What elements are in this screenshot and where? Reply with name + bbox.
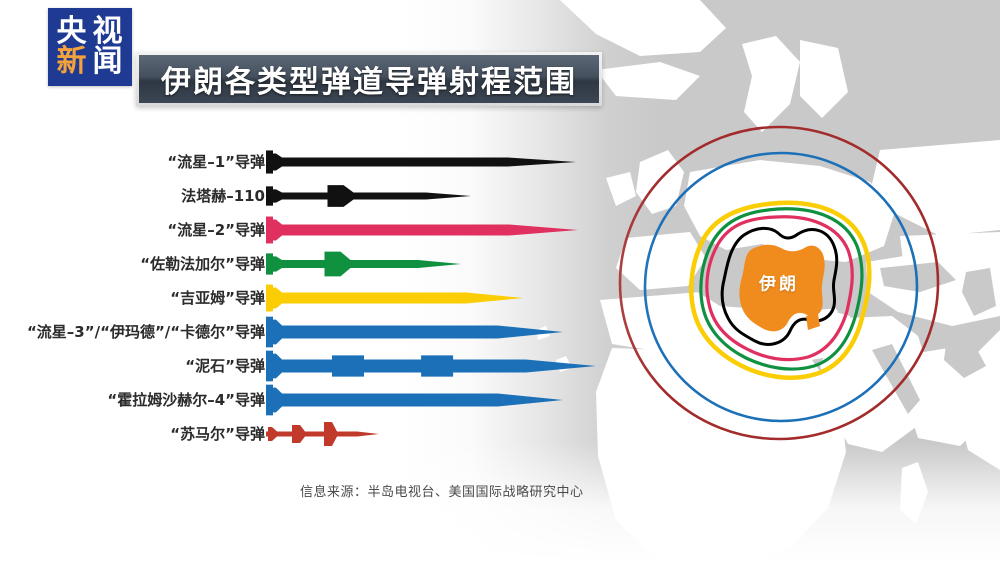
missile-name-label: “泥石”导弹 <box>185 349 265 383</box>
missile-range-row: “霍拉姆沙赫尔–4”导弹 <box>0 383 1000 417</box>
missile-bar <box>266 179 477 213</box>
missile-range-row: 法塔赫–110 <box>0 179 1000 213</box>
missile-range-row: “流星–1”导弹 <box>0 145 1000 179</box>
missile-range-row: “泥石”导弹 <box>0 349 1000 383</box>
missile-name-label: “流星–2”导弹 <box>167 213 265 247</box>
logo-char-wen: 闻 <box>90 47 126 77</box>
logo-line-1: 央 视 <box>54 17 126 47</box>
missile-bar <box>266 383 569 417</box>
missile-range-row: “佐勒法加尔”导弹 <box>0 247 1000 281</box>
logo-char-shi: 视 <box>90 17 126 47</box>
missile-bar <box>266 247 467 281</box>
logo-line-2: 新 闻 <box>54 47 126 77</box>
missile-name-label: “霍拉姆沙赫尔–4”导弹 <box>107 383 265 417</box>
cctv-news-logo: 央 视 新 闻 <box>48 8 132 86</box>
missile-name-label: “苏马尔”导弹 <box>170 417 265 451</box>
missile-bar <box>266 281 529 315</box>
infographic-canvas: 伊朗 央 视 新 闻 伊朗各类型弹道导弹射程范围 “流星–1”导弹法塔赫–110… <box>0 0 1000 562</box>
missile-range-row: “流星–2”导弹 <box>0 213 1000 247</box>
missile-name-label: “佐勒法加尔”导弹 <box>140 247 265 281</box>
source-note: 信息来源：半岛电视台、美国国际战略研究中心 <box>300 481 584 500</box>
missile-name-label: 法塔赫–110 <box>181 179 265 213</box>
logo-char-xin: 新 <box>54 47 90 77</box>
missile-range-bar-list: “流星–1”导弹法塔赫–110“流星–2”导弹“佐勒法加尔”导弹“吉亚姆”导弹“… <box>0 145 1000 451</box>
missile-bar <box>266 213 584 247</box>
missile-bar <box>266 145 582 179</box>
title-banner: 伊朗各类型弹道导弹射程范围 <box>136 52 602 106</box>
missile-name-label: “吉亚姆”导弹 <box>170 281 265 315</box>
missile-range-row: “苏马尔”导弹 <box>0 417 1000 451</box>
missile-bar <box>266 417 385 451</box>
missile-bar <box>266 349 602 383</box>
page-title: 伊朗各类型弹道导弹射程范围 <box>161 57 577 101</box>
missile-name-label: “流星–3”/“伊玛德”/“卡德尔”导弹 <box>27 315 265 349</box>
logo-char-yang: 央 <box>54 17 90 47</box>
missile-range-row: “流星–3”/“伊玛德”/“卡德尔”导弹 <box>0 315 1000 349</box>
missile-name-label: “流星–1”导弹 <box>167 145 265 179</box>
missile-range-row: “吉亚姆”导弹 <box>0 281 1000 315</box>
title-banner-inner: 伊朗各类型弹道导弹射程范围 <box>139 55 599 103</box>
missile-bar <box>266 315 569 349</box>
